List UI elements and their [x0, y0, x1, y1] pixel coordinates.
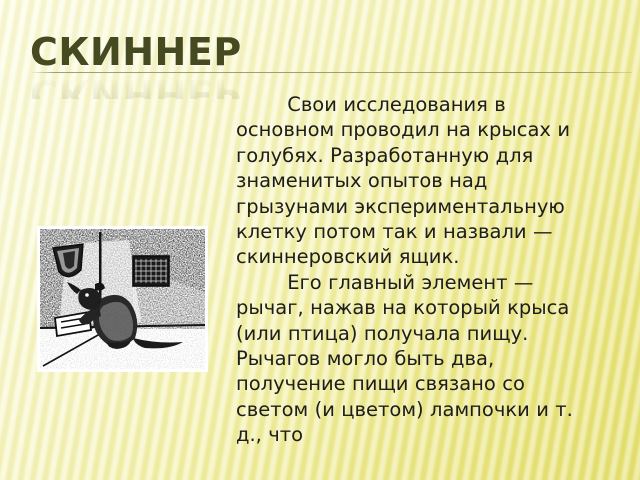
skinner-box-illustration: [37, 226, 208, 372]
slide-body-text: Свои исследования в основном проводил на…: [236, 92, 582, 448]
slide-title-block: СКИННЕР СКИННЕР: [0, 26, 640, 98]
title-divider-rule: [30, 72, 632, 73]
presentation-slide: СКИННЕР СКИННЕР Свои исследования в осно…: [0, 0, 640, 480]
skinner-box-figure-svg: [37, 226, 208, 372]
page-title: СКИННЕР: [0, 32, 242, 72]
title-reflection-text: СКИННЕР: [0, 73, 242, 99]
title-row: СКИННЕР: [0, 26, 640, 72]
